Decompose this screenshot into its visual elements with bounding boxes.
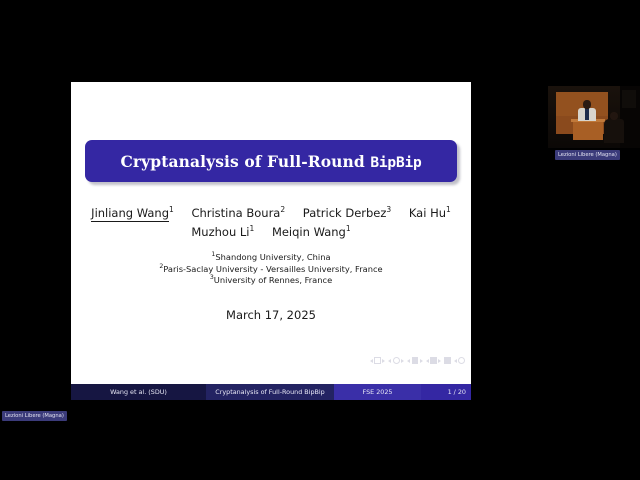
second-person-body	[604, 119, 624, 143]
nav-section-icon[interactable]	[430, 357, 437, 364]
nav-previous-section-icon[interactable]	[426, 359, 429, 363]
webcam-video	[548, 86, 640, 148]
nav-next-slide-icon[interactable]	[382, 359, 385, 363]
slide-footer: Wang et al. (SDU) Cryptanalysis of Full-…	[71, 384, 471, 400]
webcam-room-label: Lezioni Libere (Magna)	[555, 150, 620, 160]
author-row-2: Muzhou Li1 Meiqin Wang1	[71, 223, 471, 242]
author-name: Kai Hu	[409, 206, 446, 220]
nav-slide-icon[interactable]	[374, 357, 381, 364]
footer-page-number: 1 / 20	[421, 384, 471, 400]
video-frame: Cryptanalysis of Full-Round BipBip Jinli…	[0, 0, 640, 480]
second-person-head	[610, 112, 618, 120]
slide-title-block: Cryptanalysis of Full-Round BipBip	[85, 140, 457, 182]
author-affiliation-marker: 1	[346, 224, 351, 233]
nav-search-icon[interactable]	[458, 357, 465, 364]
author-name: Muzhou Li	[191, 225, 249, 239]
footer-title: Cryptanalysis of Full-Round BipBip	[206, 384, 334, 400]
author-jinliang-wang: Jinliang Wang1	[91, 204, 174, 223]
nav-document-icon[interactable]	[444, 357, 451, 364]
nav-previous-frame-icon[interactable]	[388, 359, 391, 363]
author-row-1: Jinliang Wang1 Christina Boura2 Patrick …	[71, 204, 471, 223]
affiliation-1: 1Shandong University, China	[71, 252, 471, 264]
author-meiqin-wang: Meiqin Wang1	[272, 223, 351, 242]
author-kai-hu: Kai Hu1	[409, 204, 451, 223]
stream-room-label: Lezioni Libere (Magna)	[2, 411, 67, 421]
nav-frame-icon[interactable]	[393, 357, 400, 364]
nav-subsection-group[interactable]	[407, 357, 423, 364]
author-affiliation-marker: 1	[169, 205, 174, 214]
nav-previous-subsection-icon[interactable]	[407, 359, 410, 363]
affiliation-3: 3University of Rennes, France	[71, 275, 471, 287]
author-affiliation-marker: 3	[386, 205, 391, 214]
affiliation-text: University of Rennes, France	[214, 275, 332, 285]
affiliation-list: 1Shandong University, China 2Paris-Sacla…	[71, 252, 471, 287]
author-muzhou-li: Muzhou Li1	[191, 223, 254, 242]
nav-frame-group[interactable]	[388, 357, 404, 364]
title-bar: Cryptanalysis of Full-Round BipBip	[85, 140, 457, 182]
nav-back-icon[interactable]	[454, 359, 457, 363]
nav-section-group[interactable]	[426, 357, 442, 364]
slide-content-area: Cryptanalysis of Full-Round BipBip Jinli…	[71, 82, 471, 384]
affiliation-text: Paris-Saclay University - Versailles Uni…	[163, 264, 382, 274]
slide-title-cipher-name: BipBip	[370, 155, 421, 171]
author-affiliation-marker: 1	[446, 205, 451, 214]
speaker-tie	[585, 108, 589, 120]
author-list: Jinliang Wang1 Christina Boura2 Patrick …	[71, 204, 471, 242]
nav-next-section-icon[interactable]	[438, 359, 441, 363]
nav-next-frame-icon[interactable]	[401, 359, 404, 363]
affiliation-2: 2Paris-Saclay University - Versailles Un…	[71, 264, 471, 276]
author-affiliation-marker: 1	[250, 224, 255, 233]
slide-title-main: Cryptanalysis of Full-Round	[120, 152, 370, 171]
nav-doc-group[interactable]	[444, 357, 451, 364]
affiliation-text: Shandong University, China	[215, 252, 330, 262]
webcam-panel[interactable]: Lezioni Libere (Magna)	[548, 82, 640, 174]
presentation-slide: Cryptanalysis of Full-Round BipBip Jinli…	[71, 82, 471, 400]
beamer-navigation-bar[interactable]	[370, 357, 466, 364]
author-patrick-derbez: Patrick Derbez3	[303, 204, 391, 223]
speaker-head	[583, 100, 591, 109]
footer-event: FSE 2025	[334, 384, 421, 400]
presentation-date: March 17, 2025	[71, 308, 471, 322]
author-name: Christina Boura	[191, 206, 280, 220]
author-affiliation-marker: 2	[280, 205, 285, 214]
author-name: Jinliang Wang	[91, 206, 169, 222]
nav-previous-slide-icon[interactable]	[370, 359, 373, 363]
nav-slide-group[interactable]	[370, 357, 386, 364]
author-name: Patrick Derbez	[303, 206, 387, 220]
podium	[573, 120, 603, 140]
nav-back-group[interactable]	[454, 357, 466, 364]
slide-title: Cryptanalysis of Full-Round BipBip	[120, 152, 421, 171]
footer-author: Wang et al. (SDU)	[71, 384, 206, 400]
nav-subsection-icon[interactable]	[412, 357, 419, 364]
author-name: Meiqin Wang	[272, 225, 346, 239]
projection-screen-edge	[622, 90, 636, 108]
author-christina-boura: Christina Boura2	[191, 204, 285, 223]
nav-next-subsection-icon[interactable]	[420, 359, 423, 363]
